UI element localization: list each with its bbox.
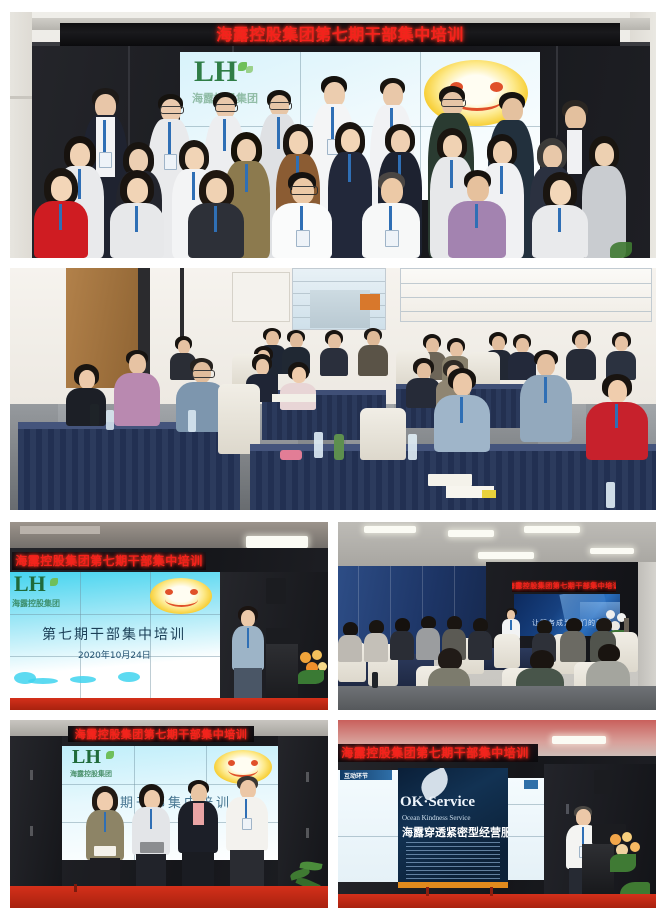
ok-service-brand-en: Ocean Kindness Service — [402, 814, 470, 822]
award-person-2 — [132, 784, 170, 898]
photo-opening-presenter: 海露控股集团第七期干部集中培训 LH 海露控股集团 第七期干部集中培训 2020… — [10, 522, 328, 710]
presentation-screen: LH 海露控股集团 第七期干部集中培训 2020年10月24日 — [10, 572, 220, 698]
lh-logo: LH — [194, 58, 237, 85]
photo-group-portrait: 海露控股集团第七期干部集中培训 LH 海露控股集团 — [10, 12, 656, 258]
award-person-4 — [226, 776, 268, 898]
photo-classroom-wide: 海露控股集团第七期干部集中培训 让服务成为我们的习惯 — [338, 522, 656, 710]
ok-service-brand-cn: 海露穿透紧密型经营服务 — [402, 824, 508, 840]
tag-bar: 互动环节 — [340, 770, 392, 780]
speaker-box — [594, 770, 612, 794]
lh-logo-subtitle: 海露控股集团 — [12, 598, 60, 609]
award-person-1 — [86, 786, 124, 898]
photo-audience-seated — [10, 268, 656, 510]
led-banner-text: 海露控股集团第七期干部集中培训 — [75, 729, 248, 740]
led-banner-1: 海露控股集团第七期干部集中培训 — [60, 23, 620, 46]
screen-main-title: 第七期干部集中培训 — [42, 624, 186, 644]
screen-date: 2020年10月24日 — [78, 648, 151, 661]
tag-label: 互动环节 — [344, 771, 368, 780]
led-banner-3: 海露控股集团第七期干部集中培训 — [12, 552, 206, 570]
speaker-box — [266, 578, 286, 604]
laptop — [266, 628, 300, 644]
led-banner-text: 海露控股集团第七期干部集中培训 — [341, 747, 529, 759]
ok-service-screen: OK·Service Ocean Kindness Service 海露穿透紧密… — [398, 768, 508, 886]
ok-service-brand: OK·Service — [400, 794, 475, 811]
led-banner-text: 海露控股集团第七期干部集中培训 — [512, 583, 616, 590]
window-right — [400, 268, 652, 322]
lh-logo: LH — [72, 748, 101, 766]
photo-ok-service-lecture: 海露控股集团第七期干部集中培训 互动环节 OK·Service Ocean Ki… — [338, 720, 656, 908]
led-banner-6: 海露控股集团第七期干部集中培训 — [338, 744, 538, 762]
presenter — [232, 606, 264, 710]
led-banner-text: 海露控股集团第七期干部集中培训 — [15, 555, 203, 567]
led-banner-text: 海露控股集团第七期干部集中培训 — [216, 27, 464, 43]
led-banner-5: 海露控股集团第七期干部集中培训 — [68, 726, 254, 742]
led-banner-4: 海露控股集团第七期干部集中培训 — [512, 580, 616, 592]
photo-collage: 海露控股集团第七期干部集中培训 LH 海露控股集团 — [0, 0, 667, 922]
photo-award-group: 海露控股集团第七期干部集中培训 LH 海露控股集团 七期干部集中培训 — [10, 720, 328, 908]
award-person-3 — [178, 780, 218, 898]
smiley-face-icon — [150, 578, 212, 614]
lh-logo-subtitle: 海露控股集团 — [70, 769, 112, 779]
table-front-left — [18, 422, 240, 510]
lh-logo: LH — [14, 574, 46, 594]
